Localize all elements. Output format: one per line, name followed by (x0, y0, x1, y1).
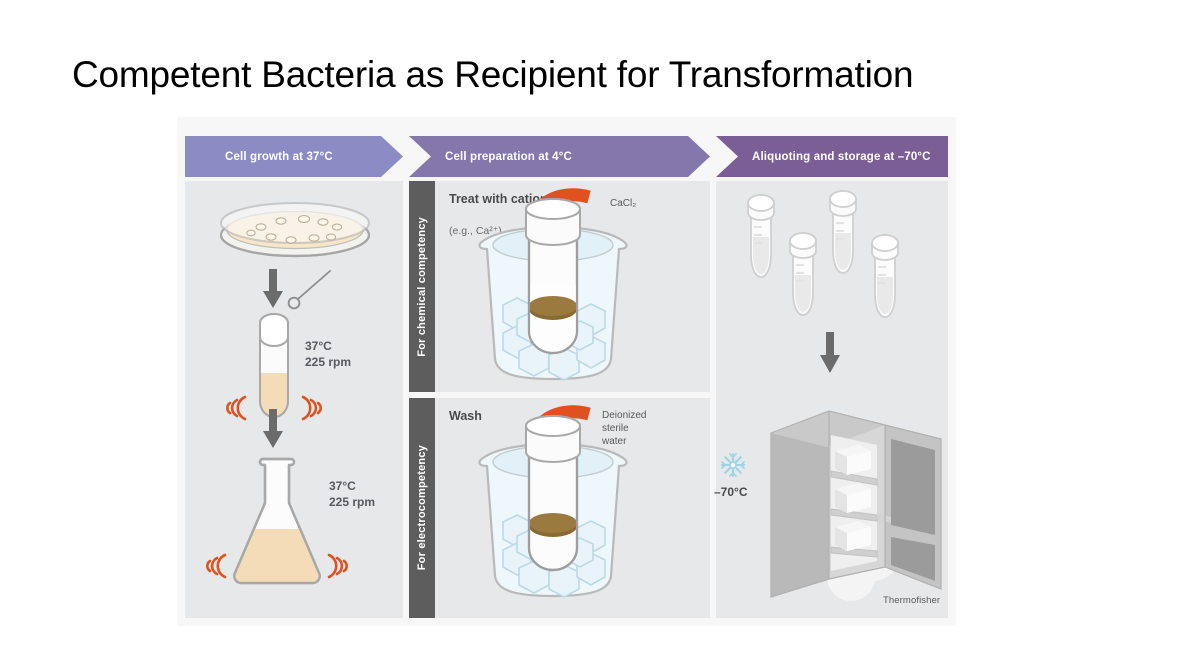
page-title: Competent Bacteria as Recipient for Tran… (72, 54, 913, 96)
shaking-motion-left-icon (223, 391, 251, 425)
freezer-temperature-label: –70°C (714, 485, 748, 499)
stage-banner-label: Cell growth at 37°C (225, 151, 333, 163)
stage-banner-cell-preparation: Cell preparation at 4°C (409, 136, 710, 177)
step-label-wash: Wash (449, 409, 482, 424)
stage-banner-cell-growth: Cell growth at 37°C (185, 136, 403, 177)
flask-conditions-label: 37°C 225 rpm (329, 479, 375, 510)
shaking-motion-right-icon (297, 391, 325, 425)
shaking-motion-right-icon-2 (323, 549, 351, 583)
down-arrow-icon-2 (261, 409, 285, 449)
microcentrifuge-tube-4 (867, 237, 903, 321)
petri-dish-icon (215, 197, 375, 259)
microcentrifuge-tube-2 (785, 235, 821, 319)
erlenmeyer-flask-icon (229, 455, 325, 587)
inoculating-loop-icon (287, 269, 333, 311)
brand-watermark: Thermofisher (883, 595, 940, 606)
side-tab-label: For chemical competency (416, 217, 428, 357)
diagram-figure: Cell growth at 37°C Cell preparation at … (177, 117, 956, 626)
stage-banner-label: Aliquoting and storage at –70°C (752, 151, 931, 163)
tube-cap-icon (522, 199, 584, 249)
microcentrifuge-tube-1 (743, 197, 779, 281)
side-tab-label: For electrocompetency (416, 445, 428, 570)
tube-cap-icon-2 (522, 416, 584, 466)
down-arrow-icon (261, 269, 285, 309)
side-tab-electrocompetency: For electrocompetency (409, 398, 435, 618)
snowflake-icon (720, 452, 746, 478)
stage-banner-aliquoting-storage: Aliquoting and storage at –70°C (716, 136, 948, 177)
side-tab-chemical-competency: For chemical competency (409, 181, 435, 392)
down-arrow-icon-3 (818, 332, 842, 374)
stage-banner-label: Cell preparation at 4°C (445, 151, 572, 163)
ultra-low-freezer-icon (765, 405, 951, 605)
tube-conditions-label: 37°C 225 rpm (305, 339, 351, 370)
shaking-motion-left-icon-2 (203, 549, 231, 583)
microcentrifuge-tube-3 (825, 193, 861, 277)
